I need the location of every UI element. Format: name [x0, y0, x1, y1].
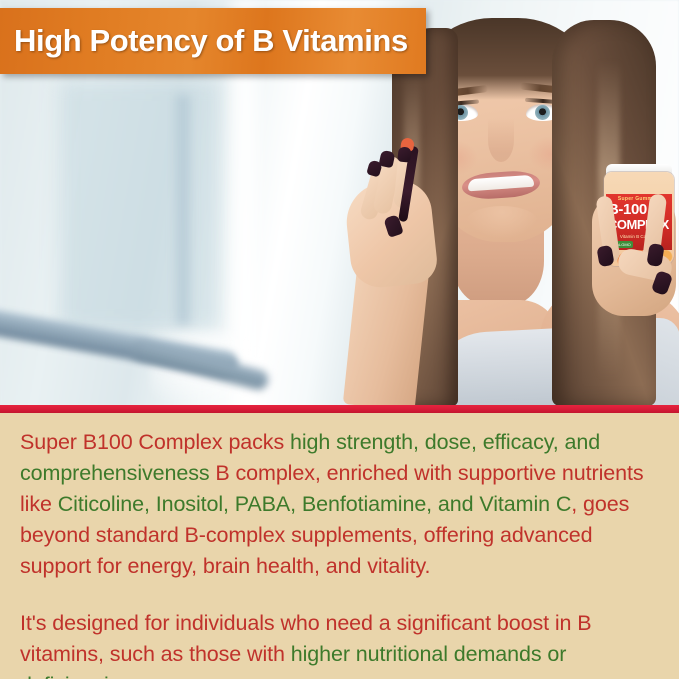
iris-right: [535, 105, 550, 120]
nose: [488, 118, 514, 162]
paragraph-1: Super B100 Complex packs high strength, …: [20, 427, 661, 582]
red-divider: [0, 405, 679, 413]
text-run-red: Super B100 Complex packs: [20, 430, 290, 454]
text-run-green: Citicoline, Inositol, PABA, Benfotiamine…: [58, 492, 572, 516]
product-infographic-page: Super Gummies B-100 COMPLEX Vitamin B Co…: [0, 0, 679, 679]
fingernail: [397, 146, 411, 162]
description-panel: Super B100 Complex packs high strength, …: [0, 413, 679, 679]
hero-photo: Super Gummies B-100 COMPLEX Vitamin B Co…: [0, 0, 679, 406]
chin: [466, 206, 538, 238]
paragraph-2: It's designed for individuals who need a…: [20, 608, 661, 679]
teeth: [468, 175, 535, 192]
headline-banner: High Potency of B Vitamins: [0, 8, 426, 74]
page-title: High Potency of B Vitamins: [0, 23, 408, 59]
